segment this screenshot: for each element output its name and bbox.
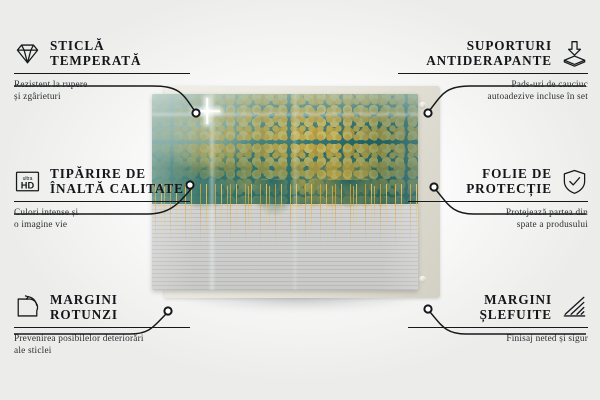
feature-sub-line2: ale sticlei bbox=[14, 345, 190, 357]
feature-header: STICLĂ TEMPERATĂ bbox=[14, 38, 190, 69]
feature-divider bbox=[398, 73, 588, 74]
feature-header: ultra HD TIPĂRIRE DE ÎNALTĂ CALITATE bbox=[14, 166, 190, 197]
feature-divider bbox=[14, 327, 190, 328]
feature-sub-line1: Prevenirea posibilelor deteriorări bbox=[14, 333, 190, 345]
feature-subtitle: Culori intense și o imagine vie bbox=[14, 207, 190, 232]
feature-header: FOLIE DE PROTECȚIE bbox=[408, 166, 588, 197]
feature-title: SUPORTURI ANTIDERAPANTE bbox=[426, 38, 552, 69]
feature-title-line1: MARGINI bbox=[50, 292, 118, 307]
feature-sub-line2: autoadezive incluse în set bbox=[398, 91, 588, 103]
feature-margini-slefuite: MARGINI ȘLEFUITE Finisaj neted și sigur bbox=[408, 292, 588, 345]
rounded-corner-icon bbox=[14, 294, 41, 321]
feature-sticla-temperata: STICLĂ TEMPERATĂ Rezistent la rupere și … bbox=[14, 38, 190, 103]
feature-divider bbox=[14, 201, 190, 202]
feature-title: FOLIE DE PROTECȚIE bbox=[466, 166, 552, 197]
feature-divider bbox=[408, 327, 588, 328]
feature-sub-line2: și zgârieturi bbox=[14, 91, 190, 103]
feature-header: SUPORTURI ANTIDERAPANTE bbox=[398, 38, 588, 69]
feature-title-line1: STICLĂ bbox=[50, 38, 141, 53]
feature-sub-line1: Protejează partea din bbox=[408, 207, 588, 219]
feature-divider bbox=[14, 73, 190, 74]
feature-sub-line2: o imagine vie bbox=[14, 219, 190, 231]
feature-sub-line1: Culori intense și bbox=[14, 207, 190, 219]
feature-title-line2: ÎNALTĂ CALITATE bbox=[50, 181, 184, 196]
feature-title-line1: TIPĂRIRE DE bbox=[50, 166, 184, 181]
press-pad-icon bbox=[561, 40, 588, 67]
ultra-hd-icon: ultra HD bbox=[14, 168, 41, 195]
feature-tiparire-inalta-calitate: ultra HD TIPĂRIRE DE ÎNALTĂ CALITATE Cul… bbox=[14, 166, 190, 231]
feature-title: MARGINI ROTUNZI bbox=[50, 292, 118, 323]
feature-title-line1: SUPORTURI bbox=[426, 38, 552, 53]
feature-sub-line1: Rezistent la rupere bbox=[14, 79, 190, 91]
feature-subtitle: Finisaj neted și sigur bbox=[408, 333, 588, 345]
feature-sub-line1: Pads-uri de cauciuc bbox=[398, 79, 588, 91]
feature-title: MARGINI ȘLEFUITE bbox=[480, 292, 552, 323]
feature-sub-line1: Finisaj neted și sigur bbox=[408, 333, 588, 345]
feature-title-line1: FOLIE DE bbox=[466, 166, 552, 181]
feature-subtitle: Protejează partea din spate a produsului bbox=[408, 207, 588, 232]
feature-title-line2: PROTECȚIE bbox=[466, 181, 552, 196]
leader-dot-suporturi bbox=[424, 109, 431, 116]
feature-title-line2: ROTUNZI bbox=[50, 307, 118, 322]
feature-subtitle: Prevenirea posibilelor deteriorări ale s… bbox=[14, 333, 190, 358]
feature-divider bbox=[408, 201, 588, 202]
feature-title: STICLĂ TEMPERATĂ bbox=[50, 38, 141, 69]
leader-dot-sticla bbox=[192, 109, 199, 116]
diamond-icon bbox=[14, 40, 41, 67]
svg-text:HD: HD bbox=[21, 180, 35, 190]
feature-suporturi-antiderapante: SUPORTURI ANTIDERAPANTE Pads-uri de cauc… bbox=[398, 38, 588, 103]
feature-title-line1: MARGINI bbox=[480, 292, 552, 307]
feature-title-line2: ȘLEFUITE bbox=[480, 307, 552, 322]
feature-folie-de-protectie: FOLIE DE PROTECȚIE Protejează partea din… bbox=[408, 166, 588, 231]
feature-sub-line2: spate a produsului bbox=[408, 219, 588, 231]
feature-margini-rotunzi: MARGINI ROTUNZI Prevenirea posibilelor d… bbox=[14, 292, 190, 357]
infographic-stage: STICLĂ TEMPERATĂ Rezistent la rupere și … bbox=[0, 0, 600, 400]
feature-title-line2: ANTIDERAPANTE bbox=[426, 53, 552, 68]
feature-title-line2: TEMPERATĂ bbox=[50, 53, 141, 68]
diagonal-hatch-icon bbox=[561, 294, 588, 321]
feature-subtitle: Pads-uri de cauciuc autoadezive incluse … bbox=[398, 79, 588, 104]
feature-title: TIPĂRIRE DE ÎNALTĂ CALITATE bbox=[50, 166, 184, 197]
shield-check-icon bbox=[561, 168, 588, 195]
feature-header: MARGINI ȘLEFUITE bbox=[408, 292, 588, 323]
feature-subtitle: Rezistent la rupere și zgârieturi bbox=[14, 79, 190, 104]
feature-header: MARGINI ROTUNZI bbox=[14, 292, 190, 323]
